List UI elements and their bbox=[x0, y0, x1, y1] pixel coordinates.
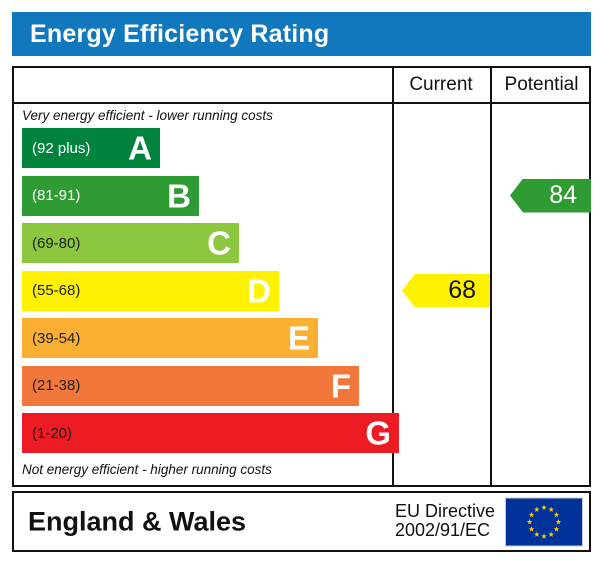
band-range-c: (69-80) bbox=[22, 235, 80, 252]
rating-marker-current: 68 bbox=[402, 274, 490, 308]
eu-flag-icon bbox=[505, 497, 583, 546]
eu-directive-label: EU Directive 2002/91/EC bbox=[395, 502, 495, 542]
rating-band-a: (92 plus)A bbox=[22, 128, 160, 168]
band-letter-e: E bbox=[288, 322, 310, 355]
caption-very-efficient: Very energy efficient - lower running co… bbox=[22, 108, 273, 123]
rating-value-potential: 84 bbox=[549, 181, 577, 210]
rating-table: Current Potential Very energy efficient … bbox=[12, 66, 591, 487]
rating-marker-potential: 84 bbox=[510, 179, 591, 213]
column-header-current: Current bbox=[392, 68, 490, 102]
rating-value-current: 68 bbox=[448, 276, 476, 305]
rating-band-d: (55-68)D bbox=[22, 271, 279, 311]
column-header-row: Current Potential bbox=[14, 68, 589, 104]
page-title: Energy Efficiency Rating bbox=[12, 20, 329, 49]
rating-band-g: (1-20)G bbox=[22, 413, 399, 453]
certificate-footer: England & Wales EU Directive 2002/91/EC bbox=[12, 491, 591, 552]
band-range-b: (81-91) bbox=[22, 187, 80, 204]
band-letter-g: G bbox=[365, 417, 391, 450]
band-letter-a: A bbox=[128, 132, 152, 165]
chart-title-bar: Energy Efficiency Rating bbox=[12, 12, 591, 56]
column-header-potential: Potential bbox=[492, 68, 591, 102]
caption-not-efficient: Not energy efficient - higher running co… bbox=[22, 462, 272, 477]
eu-directive-line-1: EU Directive bbox=[395, 502, 495, 522]
band-letter-c: C bbox=[207, 227, 231, 260]
band-range-d: (55-68) bbox=[22, 282, 80, 299]
band-range-e: (39-54) bbox=[22, 330, 80, 347]
column-divider-2 bbox=[490, 68, 492, 485]
rating-band-f: (21-38)F bbox=[22, 366, 359, 406]
band-letter-d: D bbox=[247, 274, 271, 307]
region-label: England & Wales bbox=[28, 506, 246, 537]
band-range-f: (21-38) bbox=[22, 377, 80, 394]
band-range-a: (92 plus) bbox=[22, 140, 90, 157]
rating-band-c: (69-80)C bbox=[22, 223, 239, 263]
rating-band-b: (81-91)B bbox=[22, 176, 199, 216]
band-letter-f: F bbox=[331, 369, 351, 402]
energy-efficiency-certificate: Energy Efficiency Rating Current Potenti… bbox=[0, 0, 603, 564]
band-range-g: (1-20) bbox=[22, 425, 72, 442]
rating-band-e: (39-54)E bbox=[22, 318, 318, 358]
band-letter-b: B bbox=[167, 179, 191, 212]
eu-directive-line-2: 2002/91/EC bbox=[395, 522, 495, 542]
bands-area: Very energy efficient - lower running co… bbox=[14, 104, 390, 485]
